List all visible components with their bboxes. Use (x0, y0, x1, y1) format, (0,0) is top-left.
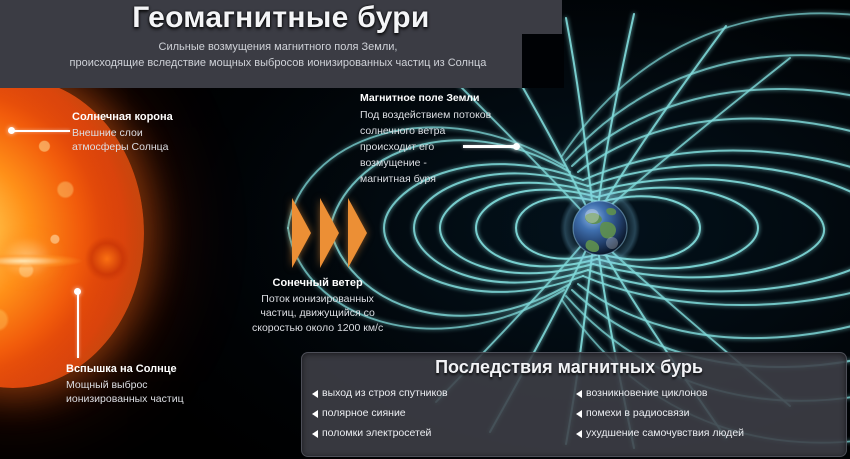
solar-prominence (0, 234, 128, 288)
solar-wind-line-1: Поток ионизированных (252, 292, 383, 307)
magnetic-field-line-5: магнитная буря (360, 171, 491, 187)
bullet-triangle-icon (576, 430, 582, 438)
header-panel: Геомагнитные бури Сильные возмущения маг… (0, 0, 562, 88)
solar-flare-line-1: Мощный выброс (66, 378, 184, 393)
consequences-left-column: выход из строя спутников полярное сияние… (312, 383, 576, 443)
solar-flare-heading: Вспышка на Солнце (66, 362, 184, 377)
infographic-root: Геомагнитные бури Сильные возмущения маг… (0, 0, 850, 459)
magnetic-field-callout-dot (513, 143, 520, 150)
bullet-triangle-icon (312, 430, 318, 438)
list-item: возникновение циклонов (576, 383, 840, 403)
page-title: Геомагнитные бури (0, 1, 562, 35)
subtitle-line-2: происходящие вследствие мощных выбросов … (0, 56, 556, 72)
list-item: помехи в радиосвязи (576, 403, 840, 423)
solar-wind-arrow-icon (348, 198, 367, 268)
page-subtitle: Сильные возмущения магнитного поля Земли… (0, 40, 556, 71)
corona-line-1: Внешние слои (72, 126, 173, 141)
magnetic-field-heading: Магнитное поле Земли (360, 90, 491, 106)
consequences-title: Последствия магнитных бурь (302, 357, 836, 378)
bullet-triangle-icon (576, 390, 582, 398)
corona-heading: Солнечная корона (72, 110, 173, 125)
corona-leader-line (12, 130, 70, 133)
magnetic-field-leader-line (463, 145, 517, 148)
list-item: выход из строя спутников (312, 383, 576, 403)
solar-wind-line-2: частиц, движущийся со (252, 306, 383, 321)
magnetic-field-line-4: возмущение - (360, 155, 491, 171)
solar-wind-line-3: скоростью около 1200 км/с (252, 321, 383, 336)
bullet-triangle-icon (312, 410, 318, 418)
solar-wind-heading: Сонечный ветер (252, 276, 383, 291)
callout-solar-flare: Вспышка на Солнце Мощный выброс ионизиро… (66, 362, 184, 407)
subtitle-line-1: Сильные возмущения магнитного поля Земли… (0, 40, 556, 56)
list-item-label: возникновение циклонов (586, 383, 708, 403)
list-item-label: полярное сияние (322, 403, 406, 423)
solar-wind-arrow-icon (292, 198, 311, 268)
bullet-triangle-icon (576, 410, 582, 418)
solar-wind-arrows (292, 198, 368, 268)
list-item: поломки электросетей (312, 423, 576, 443)
corona-line-2: атмосферы Солнца (72, 140, 173, 155)
solar-flare-leader-line (77, 292, 80, 358)
consequences-columns: выход из строя спутников полярное сияние… (312, 383, 840, 443)
callout-solar-wind: Сонечный ветер Поток ионизированных част… (252, 276, 383, 335)
consequences-right-column: возникновение циклонов помехи в радиосвя… (576, 383, 840, 443)
magnetic-field-line-1: Под воздействием потоков (360, 107, 491, 123)
magnetic-field-line-2: солнечного ветра (360, 123, 491, 139)
list-item-label: ухудшение самочувствия людей (586, 423, 744, 443)
callout-solar-corona: Солнечная корона Внешние слои атмосферы … (72, 110, 173, 155)
solar-wind-arrow-icon (320, 198, 339, 268)
list-item-label: поломки электросетей (322, 423, 431, 443)
list-item: ухудшение самочувствия людей (576, 423, 840, 443)
earth-globe (560, 188, 640, 268)
consequences-panel: Последствия магнитных бурь выход из стро… (301, 352, 847, 457)
bullet-triangle-icon (312, 390, 318, 398)
callout-magnetic-field: Магнитное поле Земли Под воздействием по… (360, 90, 491, 187)
solar-flare-line-2: ионизированных частиц (66, 392, 184, 407)
list-item: полярное сияние (312, 403, 576, 423)
list-item-label: выход из строя спутников (322, 383, 448, 403)
list-item-label: помехи в радиосвязи (586, 403, 689, 423)
